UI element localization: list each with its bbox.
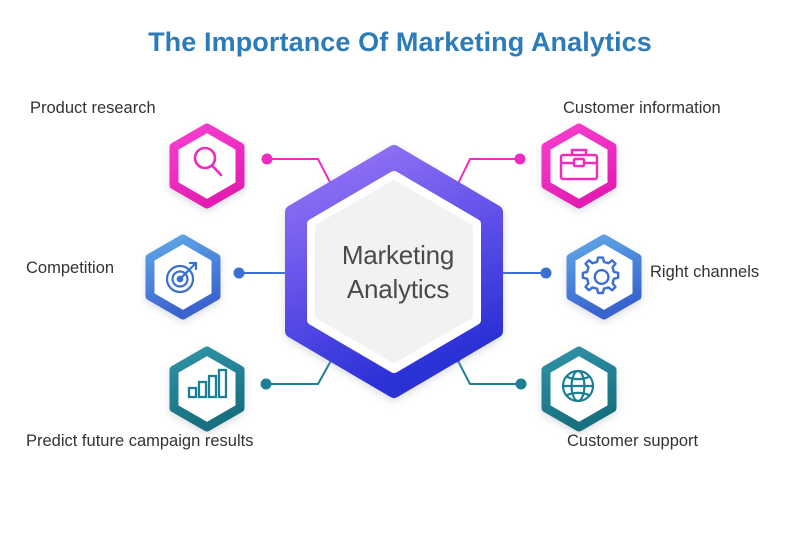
node-product-research[interactable] — [174, 128, 240, 204]
node-customer-information[interactable] — [546, 128, 612, 204]
center-label-line1: Marketing — [300, 238, 496, 272]
center-label-line2: Analytics — [300, 272, 496, 306]
label-customer-support: Customer support — [567, 432, 698, 451]
label-predict-future-campaign-results: Predict future campaign results — [26, 432, 253, 451]
node-customer-support[interactable] — [546, 351, 612, 427]
label-product-research: Product research — [30, 99, 156, 118]
label-right-channels: Right channels — [650, 263, 759, 282]
label-customer-information: Customer information — [563, 99, 721, 118]
label-competition: Competition — [26, 259, 114, 278]
marketing-analytics-infographic: The Importance Of Marketing Analytics — [0, 0, 800, 533]
node-predict-future-campaign-results[interactable] — [174, 351, 240, 427]
node-competition[interactable] — [150, 239, 216, 315]
node-right-channels[interactable] — [571, 239, 637, 315]
center-label: Marketing Analytics — [300, 238, 496, 307]
